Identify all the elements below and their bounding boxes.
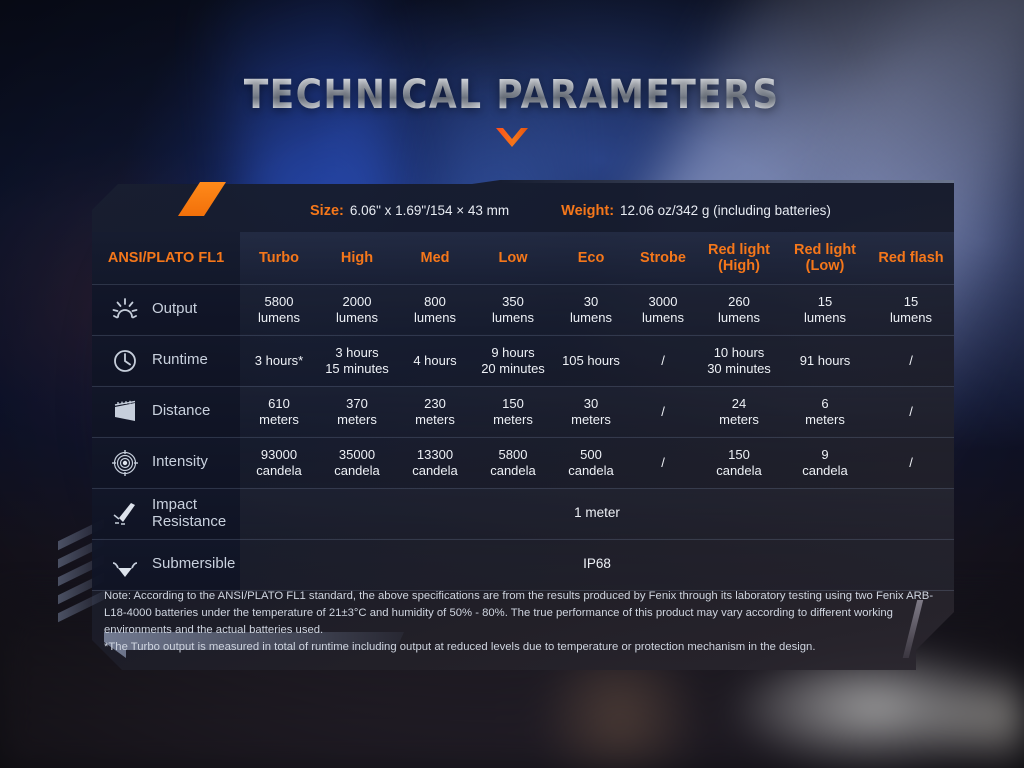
light-burst-icon [110, 295, 140, 325]
row-value-cell: / [630, 335, 696, 386]
footnote-line-2: *The Turbo output is measured in total o… [104, 639, 944, 656]
size-value: 6.06" x 1.69"/154 × 43 mm [350, 203, 509, 218]
row-value-cell: 6meters [782, 386, 868, 437]
row-value-cell: 150candela [696, 437, 782, 488]
table-header-row: ANSI/PLATO FL1 Turbo High Med Low Eco St… [92, 232, 954, 284]
row-value-cell: / [868, 335, 954, 386]
row-value-cell: / [868, 386, 954, 437]
column-header-high: High [318, 232, 396, 284]
beam-distance-icon [110, 397, 140, 427]
row-value-cell: 3000lumens [630, 284, 696, 335]
clock-icon [110, 346, 140, 376]
row-label: Intensity [152, 454, 208, 471]
row-label: ImpactResistance [152, 497, 226, 531]
row-value-cell: 91 hours [782, 335, 868, 386]
specifications-table: ANSI/PLATO FL1 Turbo High Med Low Eco St… [92, 232, 954, 591]
table-row: Output5800lumens2000lumens800lumens350lu… [92, 284, 954, 335]
column-header-standard: ANSI/PLATO FL1 [92, 232, 240, 284]
panel-top-edge-highlight [500, 180, 954, 183]
row-label: Output [152, 301, 197, 318]
column-header-med: Med [396, 232, 474, 284]
table-row: Intensity93000candela35000candela13300ca… [92, 437, 954, 488]
column-header-red-light-high: Red light(High) [696, 232, 782, 284]
table-row: ImpactResistance1 meter [92, 488, 954, 539]
row-value-cell: 610meters [240, 386, 318, 437]
row-value-cell: / [630, 386, 696, 437]
row-value-cell: 3 hours* [240, 335, 318, 386]
row-value-cell: 4 hours [396, 335, 474, 386]
row-value-cell: 2000lumens [318, 284, 396, 335]
row-value-cell: 30lumens [552, 284, 630, 335]
table-body: Output5800lumens2000lumens800lumens350lu… [92, 284, 954, 590]
row-label-cell: Output [92, 284, 240, 335]
table-row: Runtime3 hours*3 hours15 minutes4 hours9… [92, 335, 954, 386]
column-header-turbo: Turbo [240, 232, 318, 284]
row-label-cell: Runtime [92, 335, 240, 386]
row-value-cell: 1 meter [240, 488, 954, 539]
row-label: Distance [152, 403, 210, 420]
row-value-cell: IP68 [240, 539, 954, 590]
row-value-cell: 15lumens [868, 284, 954, 335]
column-header-red-flash: Red flash [868, 232, 954, 284]
row-value-cell: 93000candela [240, 437, 318, 488]
target-intensity-icon [110, 448, 140, 478]
column-header-strobe: Strobe [630, 232, 696, 284]
row-label: Submersible [152, 556, 235, 573]
row-value-cell: 13300candela [396, 437, 474, 488]
row-value-cell: 105 hours [552, 335, 630, 386]
row-label-cell: Submersible [92, 539, 240, 590]
footnote: Note: According to the ANSI/PLATO FL1 st… [104, 588, 944, 657]
row-value-cell: 800lumens [396, 284, 474, 335]
row-value-cell: 260lumens [696, 284, 782, 335]
footnote-line-1: Note: According to the ANSI/PLATO FL1 st… [104, 588, 944, 639]
size-label: Size: [310, 203, 344, 219]
page-title: TECHNICAL PARAMETERS [244, 72, 780, 118]
row-value-cell: 150meters [474, 386, 552, 437]
row-value-cell: 35000candela [318, 437, 396, 488]
weight-value: 12.06 oz/342 g (including batteries) [620, 203, 831, 218]
column-header-red-light-low: Red light(Low) [782, 232, 868, 284]
weight-group: Weight: 12.06 oz/342 g (including batter… [561, 203, 831, 219]
row-value-cell: / [630, 437, 696, 488]
row-value-cell: 3 hours15 minutes [318, 335, 396, 386]
row-value-cell: 24meters [696, 386, 782, 437]
row-value-cell: 10 hours30 minutes [696, 335, 782, 386]
page-title-wrap: TECHNICAL PARAMETERS [0, 72, 1024, 118]
row-value-cell: / [868, 437, 954, 488]
row-value-cell: 9candela [782, 437, 868, 488]
row-value-cell: 5800lumens [240, 284, 318, 335]
row-value-cell: 370meters [318, 386, 396, 437]
table-header: ANSI/PLATO FL1 Turbo High Med Low Eco St… [92, 232, 954, 284]
row-label: Runtime [152, 352, 208, 369]
weight-label: Weight: [561, 203, 614, 219]
screenshot-root: TECHNICAL PARAMETERS Size: 6.06" x 1.69"… [0, 0, 1024, 768]
chevron-down-icon [0, 126, 1024, 150]
impact-resistance-icon [110, 499, 140, 529]
row-value-cell: 30meters [552, 386, 630, 437]
row-value-cell: 500candela [552, 437, 630, 488]
table-row: Distance610meters370meters230meters150me… [92, 386, 954, 437]
row-label-cell: Intensity [92, 437, 240, 488]
size-group: Size: 6.06" x 1.69"/154 × 43 mm [310, 203, 509, 219]
column-header-eco: Eco [552, 232, 630, 284]
row-label-cell: Distance [92, 386, 240, 437]
table-row: SubmersibleIP68 [92, 539, 954, 590]
row-value-cell: 230meters [396, 386, 474, 437]
size-weight-bar: Size: 6.06" x 1.69"/154 × 43 mm Weight: … [92, 192, 954, 230]
row-value-cell: 5800candela [474, 437, 552, 488]
row-label-cell: ImpactResistance [92, 488, 240, 539]
row-value-cell: 15lumens [782, 284, 868, 335]
row-value-cell: 9 hours20 minutes [474, 335, 552, 386]
row-value-cell: 350lumens [474, 284, 552, 335]
submersible-drop-icon [110, 550, 140, 580]
column-header-low: Low [474, 232, 552, 284]
